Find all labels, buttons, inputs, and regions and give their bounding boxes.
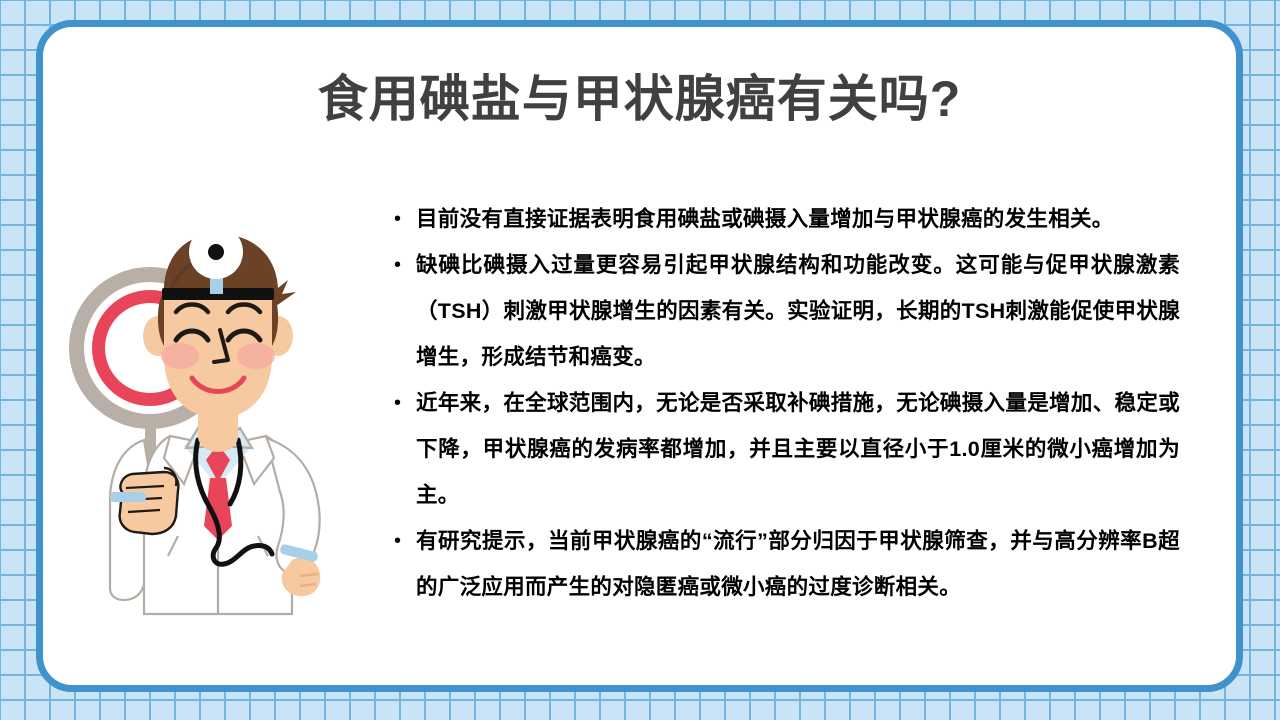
bullet-list: • 目前没有直接证据表明食用碘盐或碘摄入量增加与甲状腺癌的发生相关。 • 缺碘比… [390,196,1180,610]
cuff-left [110,492,146,502]
slide-root: 食用碘盐与甲状腺癌有关吗? [0,0,1280,720]
list-item: • 有研究提示，当前甲状腺癌的“流行”部分归因于甲状腺筛查，并与高分辨率B超的广… [390,518,1180,610]
bullet-marker-icon: • [390,518,416,564]
bullet-marker-icon: • [390,242,416,288]
list-item: • 缺碘比碘摄入过量更容易引起甲状腺结构和功能改变。这可能与促甲状腺激素（TSH… [390,242,1180,380]
bullet-text: 有研究提示，当前甲状腺癌的“流行”部分归因于甲状腺筛查，并与高分辨率B超的广泛应… [416,518,1180,610]
list-item: • 目前没有直接证据表明食用碘盐或碘摄入量增加与甲状腺癌的发生相关。 [390,196,1180,242]
page-title: 食用碘盐与甲状腺癌有关吗? [36,72,1243,127]
bullet-text: 目前没有直接证据表明食用碘盐或碘摄入量增加与甲状腺癌的发生相关。 [416,196,1180,242]
bullet-marker-icon: • [390,380,416,426]
doctor-face [161,288,275,418]
bullet-text: 近年来，在全球范围内，无论是否采取补碘措施，无论碘摄入量是增加、稳定或下降，甲状… [416,380,1180,518]
bullet-marker-icon: • [390,196,416,242]
doctor-illustration [52,196,382,656]
bullet-text: 缺碘比碘摄入过量更容易引起甲状腺结构和功能改变。这可能与促甲状腺激素（TSH）刺… [416,242,1180,380]
list-item: • 近年来，在全球范围内，无论是否采取补碘措施，无论碘摄入量是增加、稳定或下降，… [390,380,1180,518]
